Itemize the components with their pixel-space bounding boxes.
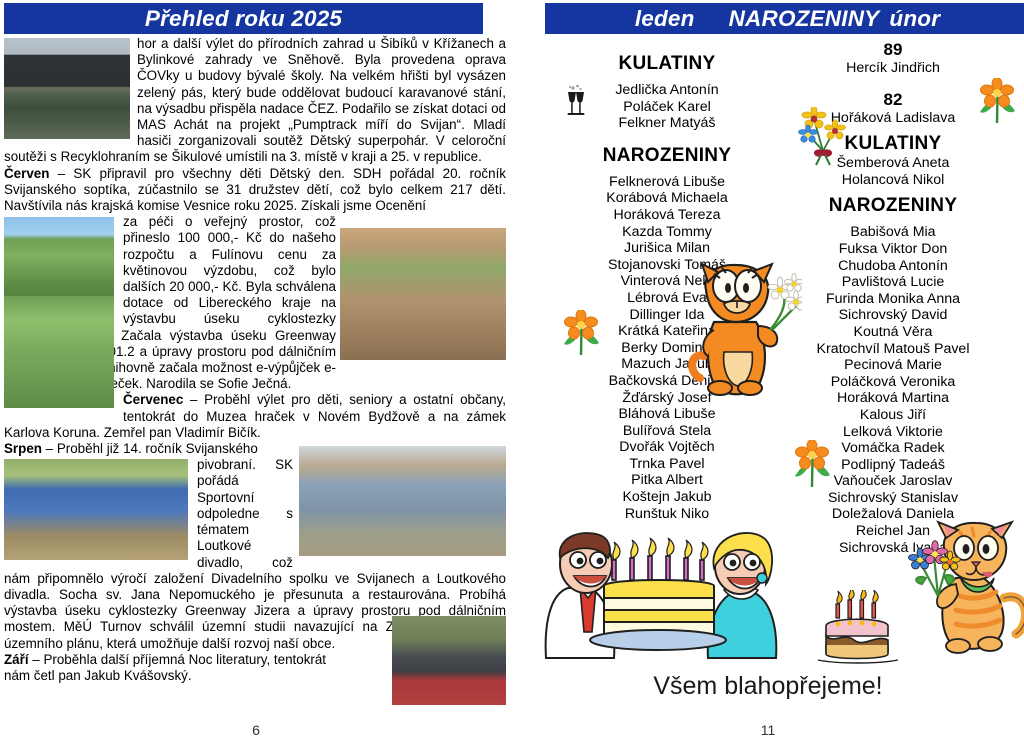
left-page-article: hor a další výlet do přírodních zahrad u… [4,36,506,724]
list-item: Pavlištová Lucie [780,274,1006,291]
list-item: Pitka Albert [554,472,780,489]
month-lead-cerven: Červen [4,166,49,181]
list-item: Runštuk Niko [554,506,780,523]
left-banner-title: Přehled roku 2025 [145,6,342,32]
list-item: Poláčková Veronika [780,374,1006,391]
left-page-banner: Přehled roku 2025 [4,3,483,34]
photo-crowd-street-summer [299,446,506,556]
birthday-greeting: Všem blahopřejeme! [512,672,1024,701]
left-page: Přehled roku 2025 hor a další výlet do p… [0,0,512,743]
right-page-number: 11 [512,722,1024,738]
magazine-spread: Přehled roku 2025 hor a další výlet do p… [0,0,1024,743]
article-month-cerven: Červen – SK připravil pro všechny děti D… [4,166,506,215]
couple-with-birthday-cake-icon [540,528,800,673]
champagne-glasses-icon [562,83,590,121]
month-lead-cervenec: Červenec [123,392,183,407]
orange-flower-icon-left [561,310,605,358]
orange-flower-icon-right-bottom [792,440,836,490]
february-age-heading-89: 89 [780,40,1006,60]
photo-man-reading-red-table [392,616,506,705]
cat-with-bouquet-icon [904,520,1024,660]
month-text-srpen: – Proběhl již 14. ročník Svijanského [42,441,258,456]
list-item: Bláhová Libuše [554,406,780,423]
january-section-heading-1: NAROZENINY [554,145,780,167]
list-item: Dvořák Vojtěch [554,439,780,456]
list-item: Korábová Michaela [554,190,780,207]
flower-bouquet-icon [794,107,854,175]
right-page-banner: leden NAROZENINY únor [545,3,1024,34]
list-item: Kalous Jiří [780,407,1006,424]
month-text-cerven: – SK připravil pro všechny děti Dětský d… [4,166,506,213]
list-item: Trnka Pavel [554,456,780,473]
list-item: Koštejn Jakub [554,489,780,506]
banner-month-left: leden [635,6,695,32]
january-section-heading-0: KULATINY [554,53,780,75]
orange-flower-icon-right-top [977,78,1021,126]
list-item: Hercík Jindřich [780,60,1006,77]
list-item: Sichrovský David [780,307,1006,324]
list-item: Horáková Tereza [554,207,780,224]
banner-title: NAROZENINY [729,6,880,32]
list-item: Sichrovský Stanislav [780,490,1006,507]
list-item: Lelková Viktorie [780,424,1006,441]
month-text-zari: – Proběhla další příjemná Noc literatury… [29,652,326,667]
list-item: Fuksa Viktor Don [780,241,1006,258]
banner-month-right: únor [889,6,940,32]
garfield-cat-with-daisies-icon [684,260,802,408]
birthday-cake-candles-icon [814,590,902,668]
month-lead-srpen: Srpen [4,441,42,456]
list-item: Pecinová Marie [780,357,1006,374]
list-item: Jurišica Milan [554,240,780,257]
list-item: Kazda Tommy [554,224,780,241]
photo-hikers-wooden-house [4,38,130,139]
photo-soptik-children-medals [4,459,188,560]
list-item: Felknerová Libuše [554,174,780,191]
left-page-number: 6 [0,722,512,738]
photo-clown-children-pergola [340,228,506,360]
right-page: leden NAROZENINY únor KULATINY Jedlička … [512,0,1024,743]
list-item: Furinda Monika Anna [780,291,1006,308]
month-lead-zari: Září [4,652,29,667]
list-item: Chudoba Antonín [780,258,1006,275]
list-item: Babišová Mia [780,224,1006,241]
photo-award-couple-flowers [4,296,114,408]
list-item: Koutná Věra [780,324,1006,341]
list-item: Bulířová Stela [554,423,780,440]
list-item: Kratochvíl Matouš Pavel [780,341,1006,358]
february-section-heading-narozeniny: NAROZENINY [780,195,1006,217]
list-item: Horáková Martina [780,390,1006,407]
